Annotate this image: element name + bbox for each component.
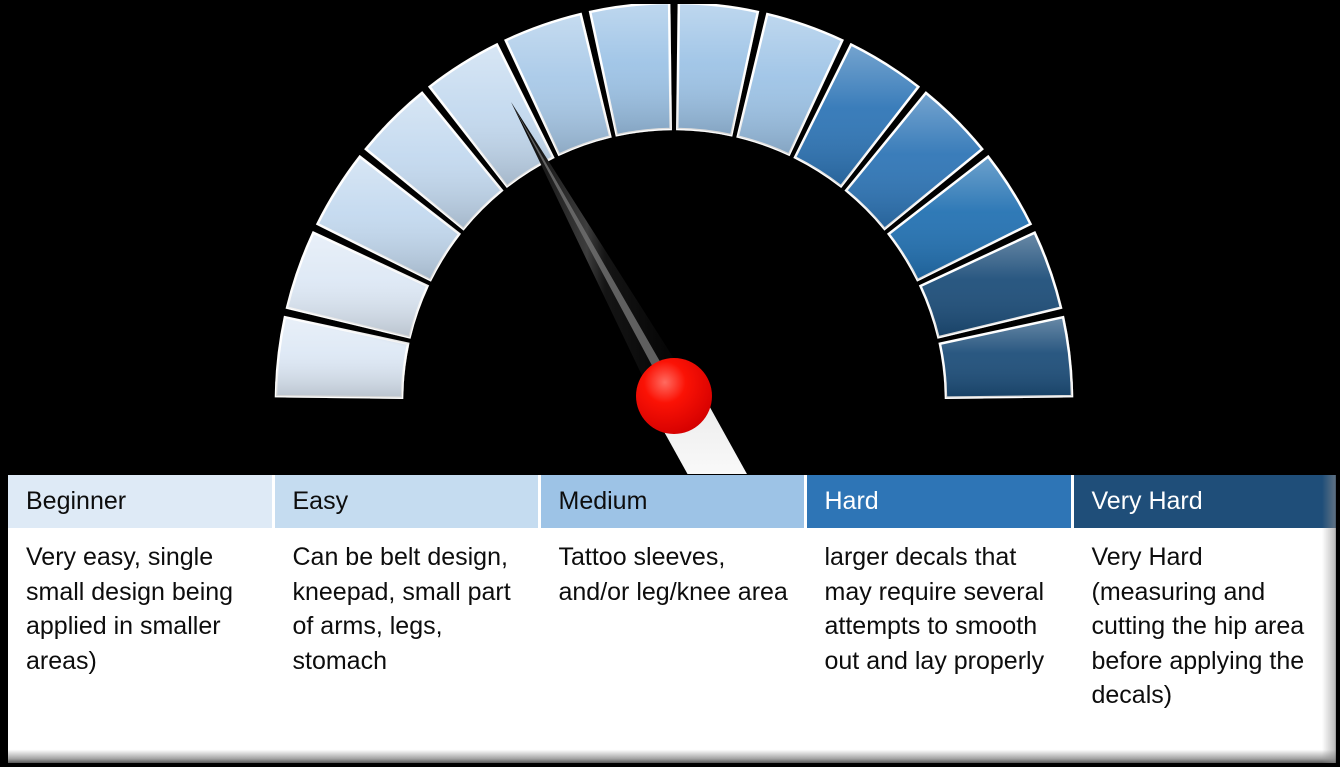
column-header-very-hard[interactable]: Very Hard (1072, 475, 1340, 528)
gauge-segment-group (276, 4, 1072, 398)
cell-beginner-description: Very easy, single small design being app… (8, 528, 273, 767)
slide-canvas: Beginner Easy Medium Hard Very Hard Very… (0, 0, 1340, 767)
gauge-area (4, 4, 1340, 474)
table-header-row: Beginner Easy Medium Hard Very Hard (8, 475, 1340, 528)
difficulty-legend-table: Beginner Easy Medium Hard Very Hard Very… (8, 475, 1340, 767)
column-header-medium[interactable]: Medium (539, 475, 805, 528)
cell-medium-description: Tattoo sleeves, and/or leg/knee area (539, 528, 805, 767)
gauge-needle-highlight (511, 102, 678, 398)
gauge-hub (636, 358, 712, 434)
difficulty-gauge (4, 4, 1340, 474)
column-header-beginner[interactable]: Beginner (8, 475, 273, 528)
table-row: Very easy, single small design being app… (8, 528, 1340, 767)
cell-hard-description: larger decals that may require several a… (805, 528, 1072, 767)
cell-easy-description: Can be belt design, kneepad, small part … (273, 528, 539, 767)
column-header-easy[interactable]: Easy (273, 475, 539, 528)
column-header-hard[interactable]: Hard (805, 475, 1072, 528)
cell-very-hard-description: Very Hard (measuring and cutting the hip… (1072, 528, 1340, 767)
